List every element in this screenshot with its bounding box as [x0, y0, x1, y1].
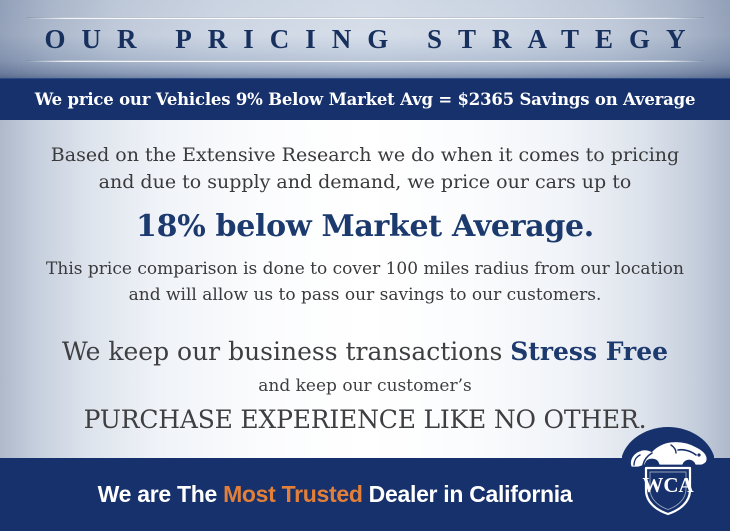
- header-divider-bottom: [26, 60, 704, 62]
- footer-tagline-highlight: Most Trusted: [223, 481, 363, 507]
- savings-banner: We price our Vehicles 9% Below Market Av…: [0, 78, 730, 120]
- footer-tagline: We are The Most Trusted Dealer in Califo…: [98, 481, 573, 508]
- pricing-strategy-ad: OUR PRICING STRATEGY We price our Vehicl…: [0, 0, 730, 531]
- footer-tagline-prefix: We are The: [98, 481, 223, 507]
- intro-paragraph: Based on the Extensive Research we do wh…: [0, 120, 730, 196]
- wca-logo: WCA: [616, 426, 720, 522]
- header-banner: OUR PRICING STRATEGY: [0, 0, 730, 78]
- savings-banner-text: We price our Vehicles 9% Below Market Av…: [35, 90, 696, 109]
- footer-tagline-suffix: Dealer in California: [363, 481, 573, 507]
- header-divider-top: [26, 17, 704, 19]
- comparison-paragraph: This price comparison is done to cover 1…: [0, 256, 730, 308]
- page-title: OUR PRICING STRATEGY: [0, 22, 730, 56]
- stress-free-line: We keep our business transactions Stress…: [0, 336, 730, 368]
- discount-headline: 18% below Market Average.: [0, 208, 730, 246]
- stress-free-prefix: We keep our business transactions: [62, 337, 510, 366]
- customer-line: and keep our customer’s: [0, 374, 730, 398]
- body-content: Based on the Extensive Research we do wh…: [0, 120, 730, 458]
- logo-wordmark: WCA: [642, 473, 694, 497]
- stress-free-highlight: Stress Free: [510, 337, 668, 366]
